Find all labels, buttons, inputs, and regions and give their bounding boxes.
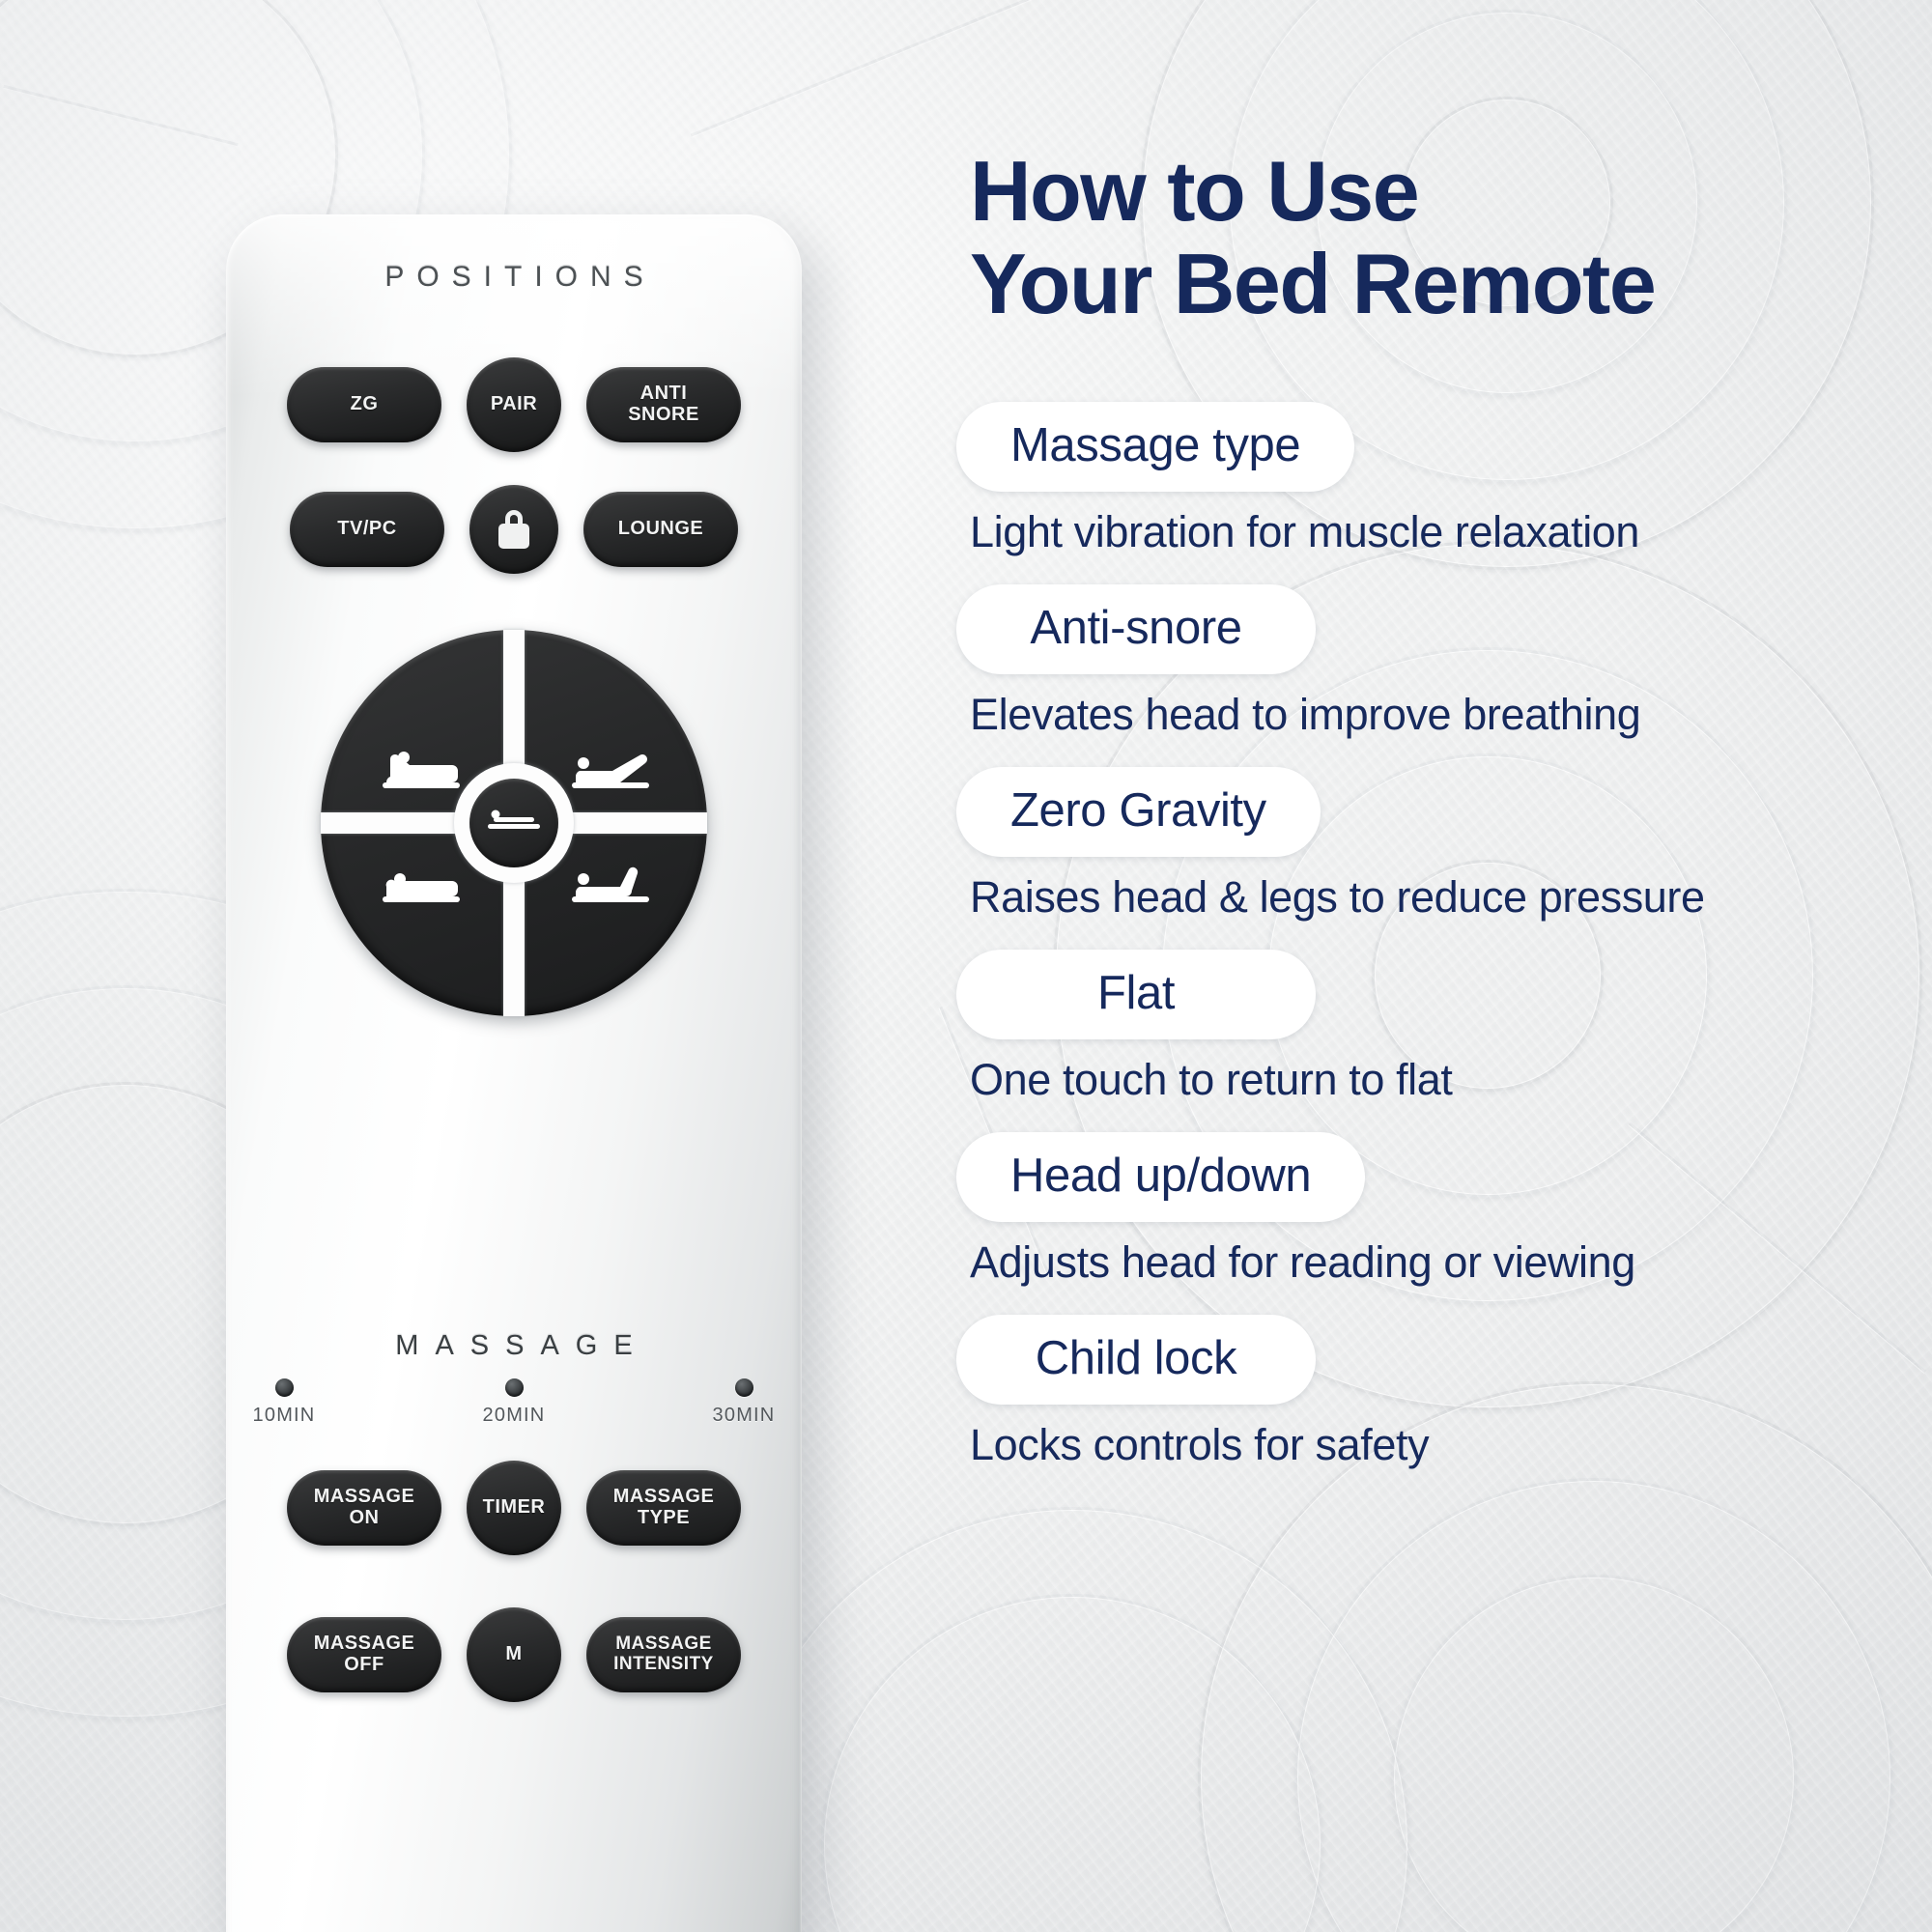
bed-feet-up-icon[interactable] <box>570 744 653 794</box>
position-control-wheel <box>321 630 707 1016</box>
instructions-panel: How to Use Your Bed Remote Massage type … <box>956 145 1884 1497</box>
feature-zero-gravity-desc: Raises head & legs to reduce pressure <box>970 872 1884 923</box>
feature-head-up-down: Head up/down Adjusts head for reading or… <box>956 1132 1884 1288</box>
pair-button[interactable]: PAIR <box>467 357 561 452</box>
bed-head-down-icon[interactable] <box>381 858 464 908</box>
bed-feet-down-icon[interactable] <box>570 858 653 908</box>
feature-massage-type: Massage type Light vibration for muscle … <box>956 402 1884 557</box>
feature-head-up-down-desc: Adjusts head for reading or viewing <box>970 1237 1884 1288</box>
feature-zero-gravity-pill[interactable]: Zero Gravity <box>956 767 1321 857</box>
timer-button-label: TIMER <box>483 1497 546 1519</box>
feature-list: Massage type Light vibration for muscle … <box>956 402 1884 1470</box>
timer-indicator-row: 10MIN 20MIN 30MIN <box>226 1378 802 1427</box>
massage-type-label-line1: MASSAGE <box>613 1487 715 1508</box>
infographic-page: POSITIONS ZG PAIR ANTI SNORE TV/PC <box>0 0 1932 1932</box>
pair-button-label: PAIR <box>491 394 537 415</box>
feature-massage-type-desc: Light vibration for muscle relaxation <box>970 507 1884 557</box>
massage-section-label: MASSAGE <box>226 1330 802 1362</box>
positions-row-1: ZG PAIR ANTI SNORE <box>226 357 802 452</box>
timer-button[interactable]: TIMER <box>467 1461 561 1555</box>
bed-remote: POSITIONS ZG PAIR ANTI SNORE TV/PC <box>226 214 831 1932</box>
feature-flat: Flat One touch to return to flat <box>956 950 1884 1105</box>
massage-on-label-line2: ON <box>350 1508 380 1529</box>
page-title-line-1: How to Use <box>970 145 1884 238</box>
feature-anti-snore-desc: Elevates head to improve breathing <box>970 690 1884 740</box>
feature-flat-desc: One touch to return to flat <box>970 1055 1884 1105</box>
massage-on-label-line1: MASSAGE <box>314 1487 415 1508</box>
led-10min-label: 10MIN <box>226 1405 342 1427</box>
flat-button[interactable] <box>454 763 574 883</box>
feature-massage-type-pill[interactable]: Massage type <box>956 402 1354 492</box>
positions-section-label: POSITIONS <box>226 261 802 294</box>
massage-off-label-line2: OFF <box>344 1655 384 1676</box>
massage-intensity-button[interactable]: MASSAGE INTENSITY <box>586 1617 741 1692</box>
led-10min-dot <box>275 1378 294 1397</box>
page-title-line-2: Your Bed Remote <box>970 238 1884 330</box>
feature-zero-gravity: Zero Gravity Raises head & legs to reduc… <box>956 767 1884 923</box>
page-title: How to Use Your Bed Remote <box>970 145 1884 330</box>
lounge-button[interactable]: LOUNGE <box>583 492 738 567</box>
feature-child-lock-desc: Locks controls for safety <box>970 1420 1884 1470</box>
zg-button-label: ZG <box>351 394 379 415</box>
child-lock-button[interactable] <box>469 485 558 574</box>
lounge-button-label: LOUNGE <box>618 519 704 540</box>
positions-row-2: TV/PC LOUNGE <box>226 485 802 574</box>
feature-head-up-down-pill[interactable]: Head up/down <box>956 1132 1365 1222</box>
massage-type-button[interactable]: MASSAGE TYPE <box>586 1470 741 1546</box>
remote-body: POSITIONS ZG PAIR ANTI SNORE TV/PC <box>226 214 802 1932</box>
anti-snore-button-label-line1: ANTI <box>640 384 688 405</box>
led-20min: 20MIN <box>456 1378 572 1427</box>
tv-pc-button[interactable]: TV/PC <box>290 492 444 567</box>
massage-off-button[interactable]: MASSAGE OFF <box>287 1617 441 1692</box>
led-30min: 30MIN <box>686 1378 802 1427</box>
led-10min: 10MIN <box>226 1378 342 1427</box>
tv-pc-button-label: TV/PC <box>337 519 396 540</box>
massage-row-2: MASSAGE OFF M MASSAGE INTENSITY <box>226 1607 802 1702</box>
massage-row-1: MASSAGE ON TIMER MASSAGE TYPE <box>226 1461 802 1555</box>
bed-head-up-icon[interactable] <box>381 744 464 794</box>
anti-snore-button[interactable]: ANTI SNORE <box>586 367 741 442</box>
massage-intensity-label-line2: INTENSITY <box>613 1655 714 1675</box>
lock-icon <box>497 510 530 549</box>
anti-snore-button-label-line2: SNORE <box>628 405 699 426</box>
led-30min-label: 30MIN <box>686 1405 802 1427</box>
memory-button[interactable]: M <box>467 1607 561 1702</box>
feature-flat-pill[interactable]: Flat <box>956 950 1316 1039</box>
massage-off-label-line1: MASSAGE <box>314 1634 415 1655</box>
feature-anti-snore-pill[interactable]: Anti-snore <box>956 584 1316 674</box>
led-30min-dot <box>735 1378 753 1397</box>
bed-flat-icon <box>484 807 544 839</box>
feature-child-lock: Child lock Locks controls for safety <box>956 1315 1884 1470</box>
zg-button[interactable]: ZG <box>287 367 441 442</box>
memory-button-label: M <box>505 1644 522 1665</box>
massage-on-button[interactable]: MASSAGE ON <box>287 1470 441 1546</box>
massage-intensity-label-line1: MASSAGE <box>615 1634 712 1655</box>
led-20min-label: 20MIN <box>456 1405 572 1427</box>
massage-type-label-line2: TYPE <box>638 1508 690 1529</box>
feature-anti-snore: Anti-snore Elevates head to improve brea… <box>956 584 1884 740</box>
led-20min-dot <box>505 1378 524 1397</box>
feature-child-lock-pill[interactable]: Child lock <box>956 1315 1316 1405</box>
